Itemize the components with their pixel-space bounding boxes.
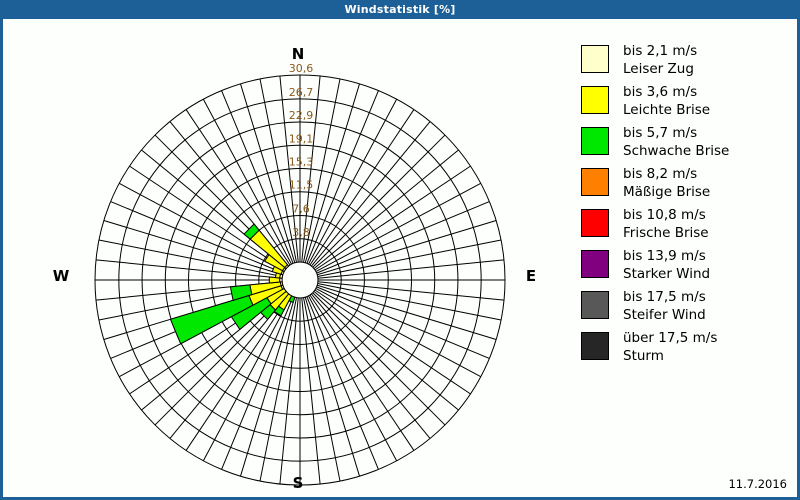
legend-item: bis 17,5 m/sSteifer Wind xyxy=(581,289,797,324)
compass-label-south: S xyxy=(278,474,318,492)
radial-tick-label: 30,6 xyxy=(289,62,314,75)
legend-item: bis 13,9 m/sStarker Wind xyxy=(581,248,797,283)
legend-item-text: über 17,5 m/sSturm xyxy=(623,330,717,365)
compass-label-north: N xyxy=(278,45,318,63)
legend-name-label: Mäßige Brise xyxy=(623,184,710,202)
radial-tick-label: 3,8 xyxy=(292,226,310,239)
legend-name-label: Steifer Wind xyxy=(623,307,706,325)
legend-item-text: bis 8,2 m/sMäßige Brise xyxy=(623,166,710,201)
legend-speed-label: über 17,5 m/s xyxy=(623,330,717,348)
legend-item: bis 5,7 m/sSchwache Brise xyxy=(581,125,797,160)
legend-color-swatch xyxy=(581,127,609,155)
legend-speed-label: bis 13,9 m/s xyxy=(623,248,710,266)
legend-color-swatch xyxy=(581,332,609,360)
legend-name-label: Starker Wind xyxy=(623,266,710,284)
windstatistik-window: Windstatistik [%] 3,87,611,515,319,122,9… xyxy=(0,0,800,500)
radial-tick-label: 11,5 xyxy=(289,179,314,192)
legend-item-text: bis 3,6 m/sLeichte Brise xyxy=(623,84,710,119)
window-titlebar: Windstatistik [%] xyxy=(0,0,800,19)
legend-speed-label: bis 2,1 m/s xyxy=(623,43,697,61)
legend-color-swatch xyxy=(581,250,609,278)
legend-item-text: bis 13,9 m/sStarker Wind xyxy=(623,248,710,283)
legend-item: bis 8,2 m/sMäßige Brise xyxy=(581,166,797,201)
legend-item: bis 2,1 m/sLeiser Zug xyxy=(581,43,797,78)
legend-name-label: Sturm xyxy=(623,348,717,366)
legend-speed-label: bis 3,6 m/s xyxy=(623,84,710,102)
legend-speed-label: bis 10,8 m/s xyxy=(623,207,709,225)
window-title: Windstatistik [%] xyxy=(344,3,455,16)
wind-rose-chart: 3,87,611,515,319,122,926,730,6 N S W E xyxy=(3,19,573,497)
legend-item-text: bis 17,5 m/sSteifer Wind xyxy=(623,289,706,324)
legend-speed-label: bis 5,7 m/s xyxy=(623,125,729,143)
compass-label-west: W xyxy=(41,267,81,285)
radial-tick-label: 7,6 xyxy=(292,203,310,216)
legend-color-swatch xyxy=(581,291,609,319)
legend-speed-label: bis 17,5 m/s xyxy=(623,289,706,307)
legend-name-label: Schwache Brise xyxy=(623,143,729,161)
radial-tick-label: 15,3 xyxy=(289,156,314,169)
wind-rose-petals xyxy=(170,224,294,344)
radial-tick-label: 19,1 xyxy=(289,132,314,145)
legend-item-text: bis 5,7 m/sSchwache Brise xyxy=(623,125,729,160)
window-content: 3,87,611,515,319,122,926,730,6 N S W E b… xyxy=(3,19,797,497)
date-stamp: 11.7.2016 xyxy=(728,477,787,491)
legend-item-text: bis 2,1 m/sLeiser Zug xyxy=(623,43,697,78)
wind-rose-svg: 3,87,611,515,319,122,926,730,6 xyxy=(3,19,573,497)
legend-item-text: bis 10,8 m/sFrische Brise xyxy=(623,207,709,242)
legend-name-label: Leichte Brise xyxy=(623,102,710,120)
legend-item: über 17,5 m/sSturm xyxy=(581,330,797,365)
radial-tick-labels: 3,87,611,515,319,122,926,730,6 xyxy=(289,62,314,239)
legend-speed-label: bis 8,2 m/s xyxy=(623,166,710,184)
legend: bis 2,1 m/sLeiser Zugbis 3,6 m/sLeichte … xyxy=(581,43,797,371)
radial-tick-label: 22,9 xyxy=(289,109,314,122)
radial-tick-label: 26,7 xyxy=(289,86,314,99)
legend-color-swatch xyxy=(581,209,609,237)
compass-label-east: E xyxy=(511,267,551,285)
legend-color-swatch xyxy=(581,86,609,114)
legend-color-swatch xyxy=(581,45,609,73)
legend-item: bis 3,6 m/sLeichte Brise xyxy=(581,84,797,119)
legend-name-label: Leiser Zug xyxy=(623,61,697,79)
legend-color-swatch xyxy=(581,168,609,196)
legend-item: bis 10,8 m/sFrische Brise xyxy=(581,207,797,242)
legend-name-label: Frische Brise xyxy=(623,225,709,243)
